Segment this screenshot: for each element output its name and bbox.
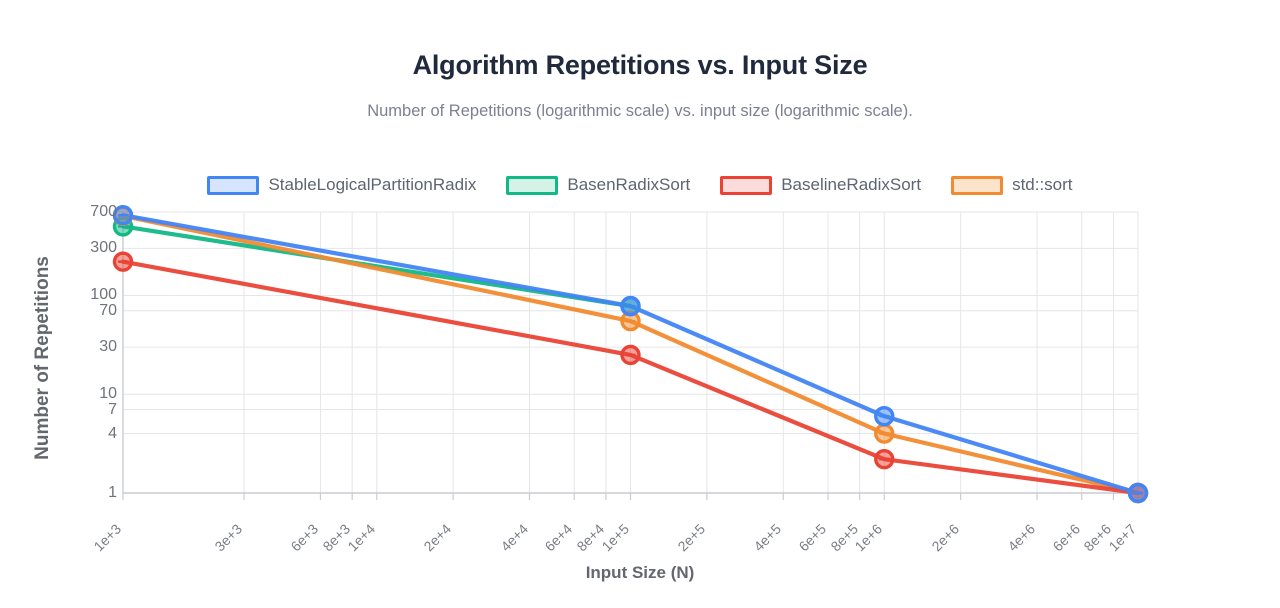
x-tick-label: 4e+5 (751, 521, 785, 555)
y-axis-title-label: Number of Repetitions (32, 256, 54, 460)
x-tick-label: 2e+4 (421, 521, 455, 555)
x-tick-label: 3e+3 (212, 521, 246, 555)
x-tick-label: 2e+5 (674, 521, 708, 555)
x-tick-label: 4e+6 (1004, 521, 1038, 555)
x-tick-label: 1e+3 (90, 521, 124, 555)
x-tick-label: 6e+4 (542, 521, 576, 555)
plot-area: 700300100703010741 1e+33e+36e+38e+31e+42… (0, 0, 1280, 608)
x-tick-label: 2e+6 (928, 521, 962, 555)
x-tick-label: 6e+3 (288, 521, 322, 555)
x-tick-label: 1e+5 (598, 521, 632, 555)
x-tick-label: 1e+6 (852, 521, 886, 555)
y-axis-title: Number of Repetitions (30, 215, 56, 500)
x-tick-label: 1e+4 (344, 521, 378, 555)
x-tick-label: 6e+5 (795, 521, 829, 555)
chart-page: Algorithm Repetitions vs. Input Size Num… (0, 0, 1280, 608)
x-tick-label: 4e+4 (497, 521, 531, 555)
x-tick-label: 1e+7 (1105, 521, 1139, 555)
x-axis-title: Input Size (N) (0, 563, 1280, 583)
x-tick-label: 6e+6 (1049, 521, 1083, 555)
x-tick-label: 8e+4 (573, 521, 607, 555)
x-tick-labels: 1e+33e+36e+38e+31e+42e+44e+46e+48e+41e+5… (0, 0, 1280, 608)
